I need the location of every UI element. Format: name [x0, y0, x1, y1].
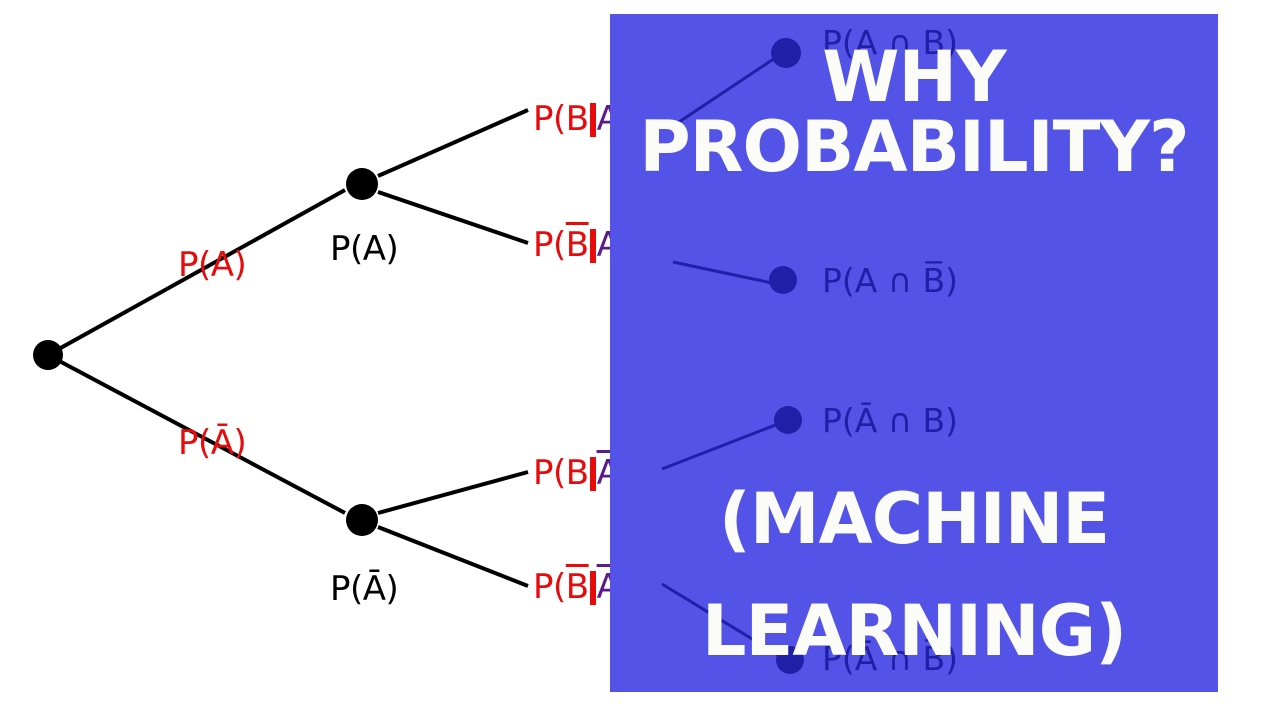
edge-b-to-outcome-1: [673, 58, 775, 126]
outcome-dot-4: [776, 646, 804, 674]
cond-separator-bar: [590, 103, 596, 137]
tree-node-a: [346, 168, 378, 200]
edge-notb-to-outcome-4: [662, 584, 780, 656]
cond-prefix: P(B: [533, 99, 589, 139]
branch-label-p-not-a: P(Ā): [178, 426, 246, 460]
cond-separator-bar: [590, 457, 596, 491]
outcome-dot-2: [769, 266, 797, 294]
tree-node-not-a: [346, 504, 378, 536]
outcome-dot-1: [771, 38, 801, 68]
tree-node-root: [33, 340, 63, 370]
edge-a-to-b: [378, 110, 528, 176]
edge-not-a-to-b: [378, 472, 528, 513]
outcome-label-a-and-b: P(A ∩ B): [822, 26, 958, 59]
outcome-branch-graphic: [610, 14, 1218, 692]
edge-notb-to-outcome-2: [673, 262, 772, 283]
edge-not-a-to-not-b: [378, 527, 528, 586]
node-label-p-not-a: P(Ā): [330, 572, 398, 606]
cond-prefix: P(B: [533, 453, 589, 493]
outcome-label-not-a-and-b: P(Ā ∩ B): [822, 404, 958, 437]
cond-separator-bar: [590, 571, 596, 605]
node-label-p-a: P(A): [330, 232, 398, 266]
cond-prefix: P(B: [533, 567, 589, 607]
outcome-dot-3: [774, 406, 802, 434]
outcome-label-a-and-not-b: P(A ∩ B̅): [822, 264, 958, 297]
slide-canvas: P(A) P(Ā) P(A) P(Ā) P(BA) P(BA) P(BA) P(…: [0, 0, 1280, 720]
edge-a-to-not-b: [378, 192, 528, 243]
cond-prefix: P(B: [533, 225, 589, 265]
outcome-label-not-a-and-not-b: P(Ā ∩ B̅): [822, 642, 958, 675]
cond-separator-bar: [590, 229, 596, 263]
branch-label-p-a: P(A): [178, 248, 246, 282]
edge-b-to-outcome-3: [662, 424, 778, 469]
